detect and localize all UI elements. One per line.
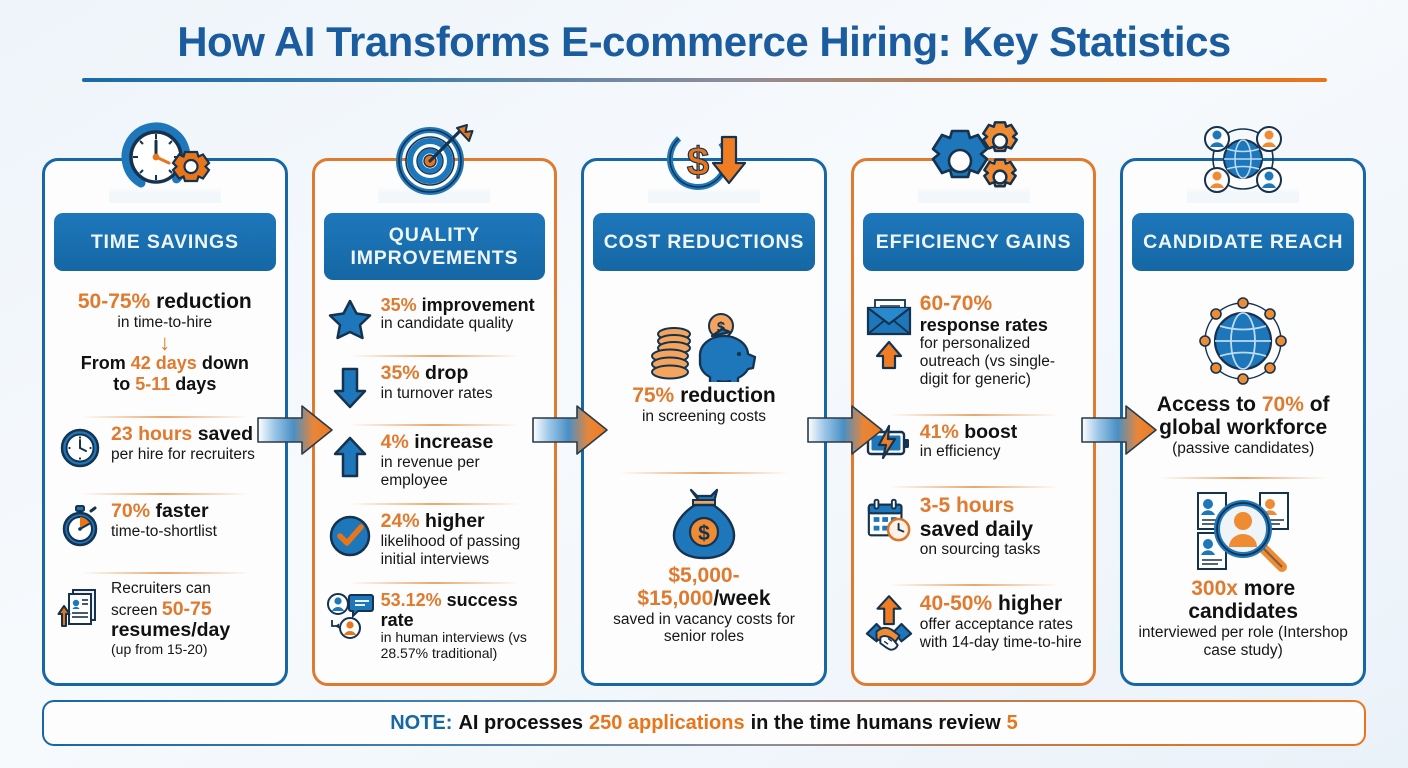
stat-sub: (up from 15-20) [111, 642, 274, 658]
star-icon [326, 295, 374, 341]
card-time-savings[interactable]: TIME SAVINGS 50-75% reduction in time-to… [42, 158, 288, 686]
stat-sub: per hire for recruiters [111, 446, 274, 464]
stat-number: 35% [381, 295, 417, 315]
stat-sub: in screening costs [632, 408, 776, 426]
extra2-post: days [170, 374, 216, 394]
dollar-down-icon: $ [645, 115, 763, 199]
stat-number: 40-50% [920, 592, 992, 615]
stat-lead: 70% faster [111, 501, 274, 523]
resume-up-icon [56, 580, 104, 632]
card-cost-reductions[interactable]: $ COST REDUCTIONS $ [581, 158, 827, 686]
page-title: How AI Transforms E-commerce Hiring: Key… [0, 20, 1408, 64]
stats-list-efficiency-gains: 60-70% response rates for personalized o… [863, 271, 1085, 673]
card-heading-quality-improvements: QUALITY IMPROVEMENTS [324, 213, 546, 280]
stat-sub: (passive candidates) [1157, 440, 1330, 458]
stat-lead-rest: higher [420, 510, 485, 532]
note-label: NOTE: [390, 712, 452, 735]
stat-lead: 53.12% success [381, 590, 544, 610]
money-bag-icon: $ [661, 480, 747, 562]
stat-extra-line2: to 5-11 days [78, 374, 252, 394]
stat-lead: 35% drop [381, 363, 544, 385]
stat-lead: 35% improvement [381, 295, 544, 315]
card-heading-cost-reductions: COST REDUCTIONS [593, 213, 815, 271]
stat-number: 3-5 hours [920, 494, 1015, 517]
stat-lead: 50-75% reduction [78, 290, 252, 314]
stat-lead-rest: drop [420, 362, 469, 384]
stat-lead: 75% reduction [632, 384, 776, 408]
extra-number: 42 days [131, 353, 197, 373]
stat-screening-cost-reduction: $ 75% reduction in screening costs [593, 299, 815, 428]
stat-number: 23 hours [111, 423, 192, 445]
statistics-columns: TIME SAVINGS 50-75% reduction in time-to… [42, 158, 1366, 686]
stat-number: 53.12% [381, 590, 442, 610]
card-candidate-reach[interactable]: CANDIDATE REACH [1120, 158, 1366, 686]
stat-sub: likelihood of passing initial interviews [381, 533, 544, 568]
stat-lead-rest: success [442, 590, 518, 610]
stat-number: 70% [1262, 393, 1304, 416]
stats-list-time-savings: 50-75% reduction in time-to-hire ↓ From … [54, 271, 276, 673]
stat-lead-line2: resumes/day [111, 620, 274, 642]
arrow-down-icon [326, 363, 374, 411]
note-text-before: AI processes [458, 712, 583, 735]
stat-inline-line: screen 50-75 [111, 598, 274, 620]
lead-pre: Access to [1157, 393, 1262, 416]
stat-pre-sub: Recruiters can [111, 580, 274, 598]
stat-sub: in efficiency [920, 443, 1083, 461]
stat-lead-rest: faster [150, 500, 209, 522]
piggy-bank-coins-icon: $ [644, 302, 764, 382]
stat-efficiency-boost: 41% boost in efficiency [863, 419, 1085, 464]
stat-global-workforce-access: Access to 70% of global workforce (passi… [1132, 286, 1354, 461]
stat-number: 70% [111, 500, 150, 522]
clock-icon [56, 424, 104, 470]
handshake-up-icon [865, 592, 913, 656]
stat-lead-rest: of [1304, 393, 1330, 416]
card-heading-time-savings: TIME SAVINGS [54, 213, 276, 271]
stat-number: 75% [632, 384, 674, 407]
stat-candidate-quality: 35% improvement in candidate quality [324, 292, 546, 344]
note-text-middle: in the time humans review [751, 712, 1001, 735]
card-heading-candidate-reach: CANDIDATE REACH [1132, 213, 1354, 271]
stat-lead-line2: global workforce [1157, 416, 1330, 440]
stats-list-cost-reductions: $ 75% reduction in screening costs [593, 271, 815, 673]
stat-lead-rest: /week [713, 587, 770, 610]
stat-candidates-interviewed: 300x more candidates interviewed per rol… [1132, 482, 1354, 662]
extra-mid: down [197, 353, 249, 373]
svg-text:$: $ [687, 140, 709, 184]
stat-sub: in time-to-hire [78, 314, 252, 332]
stat-sub: interviewed per role (Intershop case stu… [1134, 624, 1352, 659]
stats-list-quality-improvements: 35% improvement in candidate quality 35%… [324, 280, 546, 673]
card-heading-efficiency-gains: EFFICIENCY GAINS [863, 213, 1085, 271]
stat-sub: in revenue per employee [381, 454, 544, 489]
down-arrow-icon: ↓ [78, 333, 252, 353]
stat-number: 60-70% [920, 292, 992, 315]
stat-lead: 23 hours saved [111, 424, 274, 446]
stat-lead-rest: saved [192, 423, 253, 445]
stat-lead: 24% higher [381, 511, 544, 533]
extra2-number: 5-11 [135, 374, 170, 394]
extra2-pre: to [113, 374, 135, 394]
svg-text:$: $ [698, 522, 710, 545]
check-circle-icon [326, 511, 374, 559]
card-efficiency-gains[interactable]: EFFICIENCY GAINS 60-70% response rates [851, 158, 1097, 686]
stat-revenue-increase: 4% increase in revenue per employee [324, 429, 546, 492]
stat-sub: for personalized outreach (vs single-dig… [920, 335, 1083, 388]
stat-response-rates: 60-70% response rates for personalized o… [863, 289, 1085, 392]
stat-interview-passing: 24% higher likelihood of passing initial… [324, 508, 546, 571]
note-accent-applications: 250 applications [589, 712, 745, 735]
stat-extra-line1: From 42 days down [78, 353, 252, 373]
stat-number: 35% [381, 362, 420, 384]
stats-list-candidate-reach: Access to 70% of global workforce (passi… [1132, 271, 1354, 673]
stat-lead-rest: boost [959, 421, 1018, 443]
stat-lead-line2: $15,000/week [595, 587, 813, 611]
globe-people-icon [1184, 115, 1302, 199]
interview-icon [326, 590, 374, 642]
stat-lead-rest: reduction [150, 290, 252, 313]
stat-number: 300x [1191, 577, 1238, 600]
stat-lead: Access to 70% of [1157, 393, 1330, 417]
stat-hours-saved: 23 hours saved per hire for recruiters [54, 421, 276, 473]
stat-number: $5,000- [668, 564, 739, 587]
title-area: How AI Transforms E-commerce Hiring: Key… [0, 0, 1408, 82]
gears-icon [915, 115, 1033, 199]
stat-lead-rest: increase [409, 431, 494, 453]
candidate-search-icon [1184, 485, 1302, 575]
stat-lead-rest: more [1238, 577, 1295, 600]
stopwatch-icon [56, 501, 104, 549]
stat-number: 24% [381, 510, 420, 532]
stat-sub: time-to-shortlist [111, 523, 274, 541]
globe-network-icon [1192, 289, 1294, 391]
extra-pre: From [81, 353, 131, 373]
stat-number: 50-75 [162, 598, 212, 620]
stat-time-reduction: 50-75% reduction in time-to-hire ↓ From … [54, 287, 276, 396]
stat-lead: 40-50% higher [920, 592, 1083, 616]
stat-lead: 4% increase [381, 432, 544, 454]
stat-number: 4% [381, 431, 409, 453]
stat-vacancy-cost-savings: $ $5,000- $15,000/week saved in vacancy … [593, 477, 815, 649]
card-quality-improvements[interactable]: QUALITY IMPROVEMENTS 35% improvement in … [312, 158, 558, 686]
stat-human-interview-success: 53.12% success rate in human interviews … [324, 587, 546, 665]
stat-lead-rest: reduction [674, 384, 776, 407]
stat-lead: 3-5 hours [920, 494, 1083, 518]
target-arrow-icon [375, 115, 493, 199]
note-accent-five: 5 [1007, 712, 1018, 735]
stat-number: 41% [920, 421, 959, 443]
stat-number: 50-75% [78, 290, 150, 313]
stat-lead-line2: rate [381, 610, 544, 630]
arrow-up-icon [326, 432, 374, 480]
stat-faster-shortlist: 70% faster time-to-shortlist [54, 498, 276, 552]
note-bar: NOTE: AI processes 250 applications in t… [42, 700, 1366, 746]
stat-lead-line2: response rates [920, 315, 1083, 335]
stat-resumes-per-day: Recruiters can screen 50-75 resumes/day … [54, 577, 276, 661]
inline-pre: screen [111, 602, 162, 619]
stat-sub: on sourcing tasks [920, 541, 1083, 559]
stat-lead-rest: higher [992, 592, 1062, 615]
stat-offer-acceptance: 40-50% higher offer acceptance rates wit… [863, 589, 1085, 659]
stat-lead-line2: saved daily [920, 518, 1083, 542]
stat-number-2: $15,000 [637, 587, 713, 610]
stat-lead-line2: candidates [1134, 600, 1352, 624]
stat-hours-saved-daily: 3-5 hours saved daily on sourcing tasks [863, 491, 1085, 562]
stat-sub: saved in vacancy costs for senior roles [595, 611, 813, 646]
envelope-up-icon [865, 292, 913, 372]
stat-lead: $5,000- [595, 564, 813, 588]
stat-lead: 60-70% [920, 292, 1083, 316]
stat-sub: in candidate quality [381, 315, 544, 333]
stat-sub: offer acceptance rates with 14-day time-… [920, 616, 1083, 651]
stat-lead: 41% boost [920, 422, 1083, 444]
stat-sub: in human interviews (vs 28.57% tradition… [381, 630, 544, 662]
title-underline-rule [82, 78, 1327, 82]
stat-lead-rest: improvement [417, 295, 535, 315]
stat-sub: in turnover rates [381, 385, 544, 403]
calendar-clock-icon [865, 494, 913, 544]
stat-lead: 300x more [1134, 577, 1352, 601]
note-content: NOTE: AI processes 250 applications in t… [44, 702, 1364, 744]
battery-bolt-icon [865, 422, 913, 460]
clock-gear-icon [106, 115, 224, 199]
stat-turnover-drop: 35% drop in turnover rates [324, 360, 546, 414]
